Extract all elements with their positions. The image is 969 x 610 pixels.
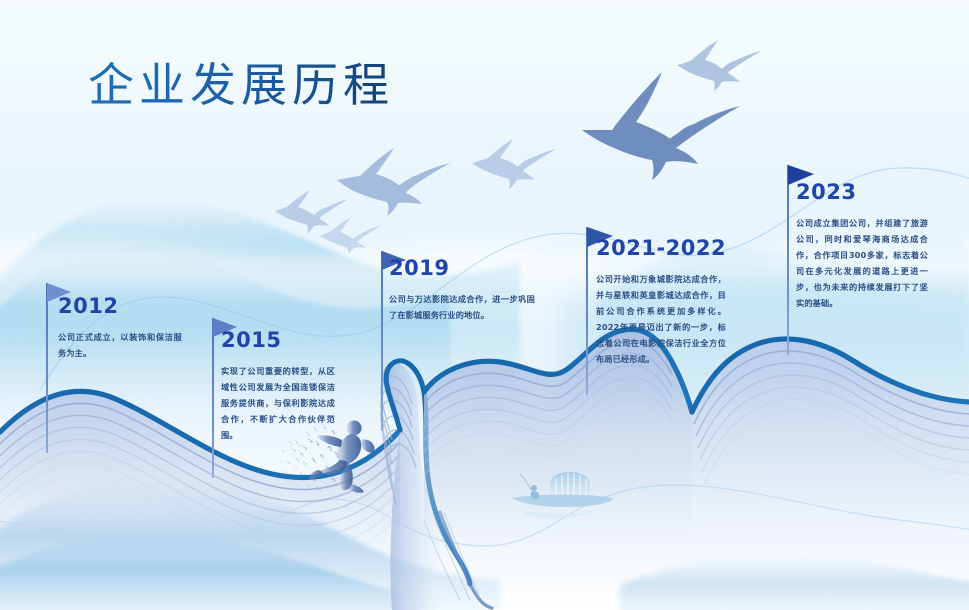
flag-pole bbox=[586, 227, 588, 395]
milestone-2021-2022: 2021-2022 公司开始和万象城影院达成合作，并与星轶和英皇影城达成合作，目… bbox=[596, 238, 726, 368]
milestone-year: 2021-2022 bbox=[596, 238, 726, 259]
milestone-2019: 2019 公司与万达影院达成合作，进一步巩固了在影城服务行业的地位。 bbox=[389, 258, 535, 324]
ribbon-right-segment bbox=[692, 339, 969, 610]
fisherman-boat-icon bbox=[498, 468, 618, 524]
page-title: 企业发展历程 bbox=[88, 62, 394, 108]
infographic-canvas: 企业发展历程 2012 公司正式成立，以装饰 bbox=[0, 0, 969, 610]
milestone-description: 公司正式成立，以装饰和保洁服务为主。 bbox=[58, 330, 182, 362]
milestone-2012: 2012 公司正式成立，以装饰和保洁服务为主。 bbox=[58, 296, 182, 362]
milestone-year: 2012 bbox=[58, 296, 182, 317]
milestone-description: 公司成立集团公司，并组建了旅游公司，同时和爱琴海商场达成合作，合作项目300多家… bbox=[796, 216, 928, 312]
flag-pole bbox=[46, 283, 48, 453]
flag-pole bbox=[787, 165, 789, 355]
milestone-year: 2019 bbox=[389, 258, 535, 279]
milestone-description: 公司开始和万象城影院达成合作，并与星轶和英皇影城达成合作，目前公司合作系统更加多… bbox=[596, 272, 726, 368]
milestone-2023: 2023 公司成立集团公司，并组建了旅游公司，同时和爱琴海商场达成合作，合作项目… bbox=[796, 182, 928, 312]
milestone-2015: 2015 实现了公司重要的转型，从区域性公司发展为全国连锁保洁服务提供商，与保利… bbox=[221, 330, 335, 444]
flag-pole bbox=[381, 251, 383, 431]
flag-pole bbox=[212, 318, 214, 478]
milestone-year: 2015 bbox=[221, 330, 335, 351]
milestone-description: 公司与万达影院达成合作，进一步巩固了在影城服务行业的地位。 bbox=[389, 292, 535, 324]
milestone-description: 实现了公司重要的转型，从区域性公司发展为全国连锁保洁服务提供商，与保利影院达成合… bbox=[221, 364, 335, 444]
milestone-year: 2023 bbox=[796, 182, 928, 203]
